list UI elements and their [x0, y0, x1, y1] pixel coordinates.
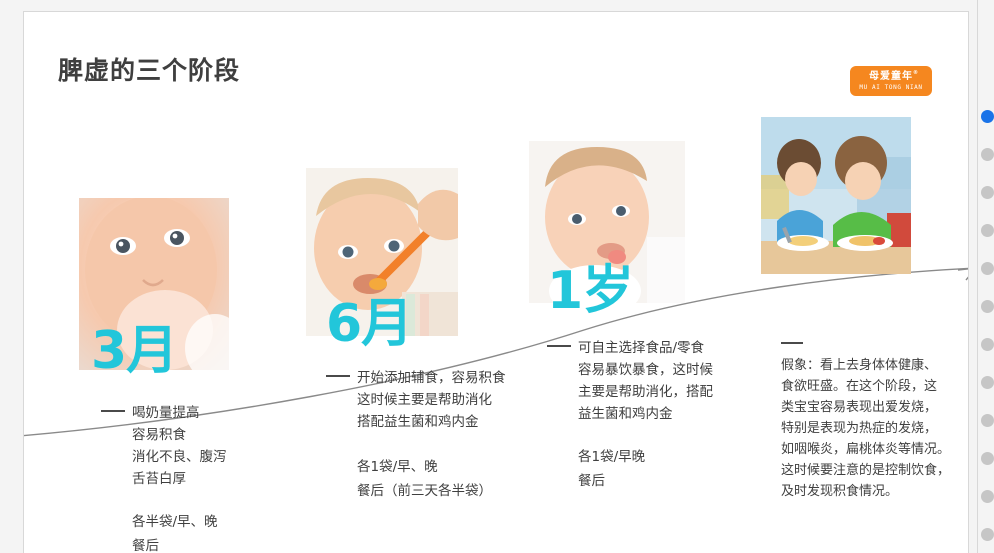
slide-dot-navigation[interactable]: [980, 110, 994, 553]
right-rail-divider: [977, 0, 978, 553]
stage-label-3: 1岁: [547, 267, 633, 316]
bullet-dash-icon: [547, 345, 571, 347]
symptom-line: 消化不良、腹泻: [101, 446, 227, 468]
symptom-line: 喝奶量提高: [101, 402, 227, 424]
dosage-line: 餐后（前三天各半袋）: [326, 479, 492, 503]
symptom-line: 主要是帮助消化，搭配: [547, 381, 713, 403]
stage-dosage-2: 各1袋/早、晚 餐后（前三天各半袋）: [326, 455, 492, 503]
slide-dot-5[interactable]: [981, 262, 994, 275]
symptom-line: 食欲旺盛。在这个阶段，这: [781, 376, 950, 397]
bullet-dash-icon: [326, 375, 350, 377]
dosage-line: 餐后: [547, 469, 645, 493]
slide-dot-9[interactable]: [981, 414, 994, 427]
dosage-line: 各1袋/早、晚: [326, 455, 492, 479]
stage-dosage-3: 各1袋/早晚 餐后: [547, 445, 645, 493]
stage-symptoms-1: 喝奶量提高 容易积食 消化不良、腹泻 舌苔白厚: [101, 402, 227, 490]
symptom-line: 可自主选择食品/零食: [547, 337, 713, 359]
symptom-line: 开始添加辅食，容易积食: [326, 367, 506, 389]
slide-dot-10[interactable]: [981, 452, 994, 465]
stage-symptoms-4: 假象：看上去身体体健康、 食欲旺盛。在这个阶段，这 类宝宝容易表现出爱发烧， 特…: [781, 334, 950, 502]
symptom-line: 特别是表现为热症的发烧，: [781, 418, 950, 439]
stage-label-2: 6月: [326, 300, 412, 349]
slide-canvas: 脾虚的三个阶段 母爱童年® MU AI TONG NIAN: [23, 11, 969, 553]
page-title: 脾虚的三个阶段: [58, 51, 240, 87]
brand-logo: 母爱童年® MU AI TONG NIAN: [850, 66, 932, 96]
symptom-line: 舌苔白厚: [101, 468, 227, 490]
symptom-line: [781, 334, 950, 355]
dosage-line: 各1袋/早晚: [547, 445, 645, 469]
slide-dot-8[interactable]: [981, 376, 994, 389]
brand-logo-cn-text: 母爱童年: [869, 71, 913, 82]
bullet-dash-icon: [781, 342, 803, 344]
slide-dot-6[interactable]: [981, 300, 994, 313]
stage-symptoms-2: 开始添加辅食，容易积食 这时候主要是帮助消化 搭配益生菌和鸡内金: [326, 367, 506, 433]
symptom-text: 喝奶量提高: [132, 405, 200, 421]
symptom-line: 类宝宝容易表现出爱发烧，: [781, 397, 950, 418]
symptom-line: 如咽喉炎，扁桃体炎等情况。: [781, 439, 950, 460]
brand-logo-en: MU AI TONG NIAN: [859, 85, 922, 91]
symptom-text: 开始添加辅食，容易积食: [357, 370, 506, 386]
symptom-line: 搭配益生菌和鸡内金: [326, 411, 506, 433]
bullet-dash-icon: [101, 410, 125, 412]
screenshot-root: 脾虚的三个阶段 母爱童年® MU AI TONG NIAN: [0, 0, 994, 553]
slide-dot-7[interactable]: [981, 338, 994, 351]
dosage-line: 各半袋/早、晚: [101, 510, 218, 534]
stage-dosage-1: 各半袋/早、晚 餐后: [101, 510, 218, 553]
slide-dot-3[interactable]: [981, 186, 994, 199]
slide-dot-12[interactable]: [981, 528, 994, 541]
symptom-line: 容易暴饮暴食，这时候: [547, 359, 713, 381]
slide-dot-2[interactable]: [981, 148, 994, 161]
stage-symptoms-3: 可自主选择食品/零食 容易暴饮暴食，这时候 主要是帮助消化，搭配 益生菌和鸡内金: [547, 337, 713, 425]
brand-logo-cn: 母爱童年®: [869, 72, 913, 82]
symptom-line: 这时候要注意的是控制饮食，: [781, 460, 950, 481]
symptom-text: 可自主选择食品/零食: [578, 340, 704, 356]
stage-photo-4: [761, 117, 911, 274]
symptom-line: 益生菌和鸡内金: [547, 403, 713, 425]
slide-dot-1[interactable]: [981, 110, 994, 123]
slide-dot-11[interactable]: [981, 490, 994, 503]
symptom-line: 及时发现积食情况。: [781, 481, 950, 502]
stage-label-1: 3月: [91, 327, 177, 376]
symptom-line: 假象：看上去身体体健康、: [781, 355, 950, 376]
symptom-line: 这时候主要是帮助消化: [326, 389, 506, 411]
registered-mark-icon: ®: [913, 71, 919, 76]
slide-dot-4[interactable]: [981, 224, 994, 237]
dosage-line: 餐后: [101, 534, 218, 553]
symptom-line: 容易积食: [101, 424, 227, 446]
